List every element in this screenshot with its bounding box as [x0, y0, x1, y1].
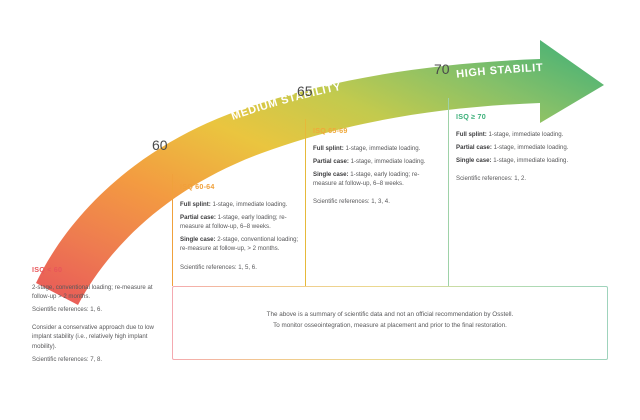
single-case-label: Single case:: [180, 236, 216, 243]
full-splint-text: 1-stage, immediate loading.: [211, 201, 288, 208]
low-protocol-text: 2-stage, conventional loading; re-measur…: [32, 283, 170, 301]
single-case-label: Single case:: [456, 157, 492, 164]
mid-low-full-splint: Full splint: 1-stage, immediate loading.: [180, 200, 300, 209]
low-stability-label: LOW STABILITY: [45, 169, 110, 251]
low-refs-2: Scientific references: 7, 8.: [32, 355, 170, 364]
infographic-canvas: LOW STABILITY MEDIUM STABILITY HIGH STAB…: [0, 0, 640, 420]
column-isq-70-plus: ISQ ≥ 70 Full splint: 1-stage, immediate…: [456, 112, 606, 187]
disclaimer-box: The above is a summary of scientific dat…: [172, 286, 608, 360]
disclaimer-text: The above is a summary of scientific dat…: [173, 309, 607, 331]
full-splint-label: Full splint:: [313, 145, 344, 152]
mid-high-single-case: Single case: 1-stage, early loading; re-…: [313, 170, 441, 188]
column-isq-below-60: ISQ < 60 2-stage, conventional loading; …: [32, 265, 170, 368]
medium-stability-label: MEDIUM STABILITY: [230, 81, 343, 123]
column-heading-isq-65-69: ISQ 65-69: [313, 126, 441, 137]
mid-low-refs: Scientific references: 1, 5, 6.: [180, 263, 300, 272]
column-divider-70: [448, 98, 449, 286]
column-isq-60-64: ISQ 60-64 Full splint: 1-stage, immediat…: [180, 182, 300, 276]
column-divider-60: [172, 174, 173, 286]
partial-case-label: Partial case:: [180, 214, 216, 221]
high-single-case: Single case: 1-stage, immediate loading.: [456, 156, 606, 165]
single-case-label: Single case:: [313, 171, 349, 178]
full-splint-label: Full splint:: [456, 131, 487, 138]
scale-tick-60: 60: [152, 137, 168, 153]
scale-tick-65: 65: [297, 83, 313, 99]
low-stability-textpath: LOW STABILITY: [45, 169, 110, 251]
column-heading-isq-below-60: ISQ < 60: [32, 265, 170, 276]
mid-low-partial-case: Partial case: 1-stage, early loading; re…: [180, 213, 300, 231]
high-refs: Scientific references: 1, 2.: [456, 174, 606, 183]
high-partial-case: Partial case: 1-stage, immediate loading…: [456, 143, 606, 152]
high-stability-label: HIGH STABILITY: [0, 0, 544, 81]
disclaimer-line-1: The above is a summary of scientific dat…: [173, 309, 607, 320]
low-advice-text: Consider a conservative approach due to …: [32, 323, 170, 350]
single-case-text: 1-stage, immediate loading.: [492, 157, 569, 164]
column-heading-isq-60-64: ISQ 60-64: [180, 182, 300, 193]
full-splint-label: Full splint:: [180, 201, 211, 208]
mid-high-partial-case: Partial case: 1-stage, immediate loading…: [313, 157, 441, 166]
partial-case-text: 1-stage, immediate loading.: [349, 158, 426, 165]
column-heading-isq-70-plus: ISQ ≥ 70: [456, 112, 606, 123]
full-splint-text: 1-stage, immediate loading.: [487, 131, 564, 138]
column-divider-65: [305, 119, 306, 286]
column-isq-65-69: ISQ 65-69 Full splint: 1-stage, immediat…: [313, 126, 441, 211]
low-refs-1: Scientific references: 1, 6.: [32, 305, 170, 314]
disclaimer-line-2: To monitor osseointegration, measure at …: [173, 320, 607, 331]
high-full-splint: Full splint: 1-stage, immediate loading.: [456, 130, 606, 139]
high-stability-textpath: HIGH STABILITY: [0, 0, 544, 81]
partial-case-label: Partial case:: [456, 144, 492, 151]
scale-tick-70: 70: [434, 61, 450, 77]
full-splint-text: 1-stage, immediate loading.: [344, 145, 421, 152]
partial-case-text: 1-stage, immediate loading.: [492, 144, 569, 151]
mid-high-refs: Scientific references: 1, 3, 4.: [313, 197, 441, 206]
mid-high-full-splint: Full splint: 1-stage, immediate loading.: [313, 144, 441, 153]
partial-case-label: Partial case:: [313, 158, 349, 165]
mid-low-single-case: Single case: 2-stage, conventional loadi…: [180, 235, 300, 253]
medium-stability-textpath: MEDIUM STABILITY: [230, 81, 343, 123]
